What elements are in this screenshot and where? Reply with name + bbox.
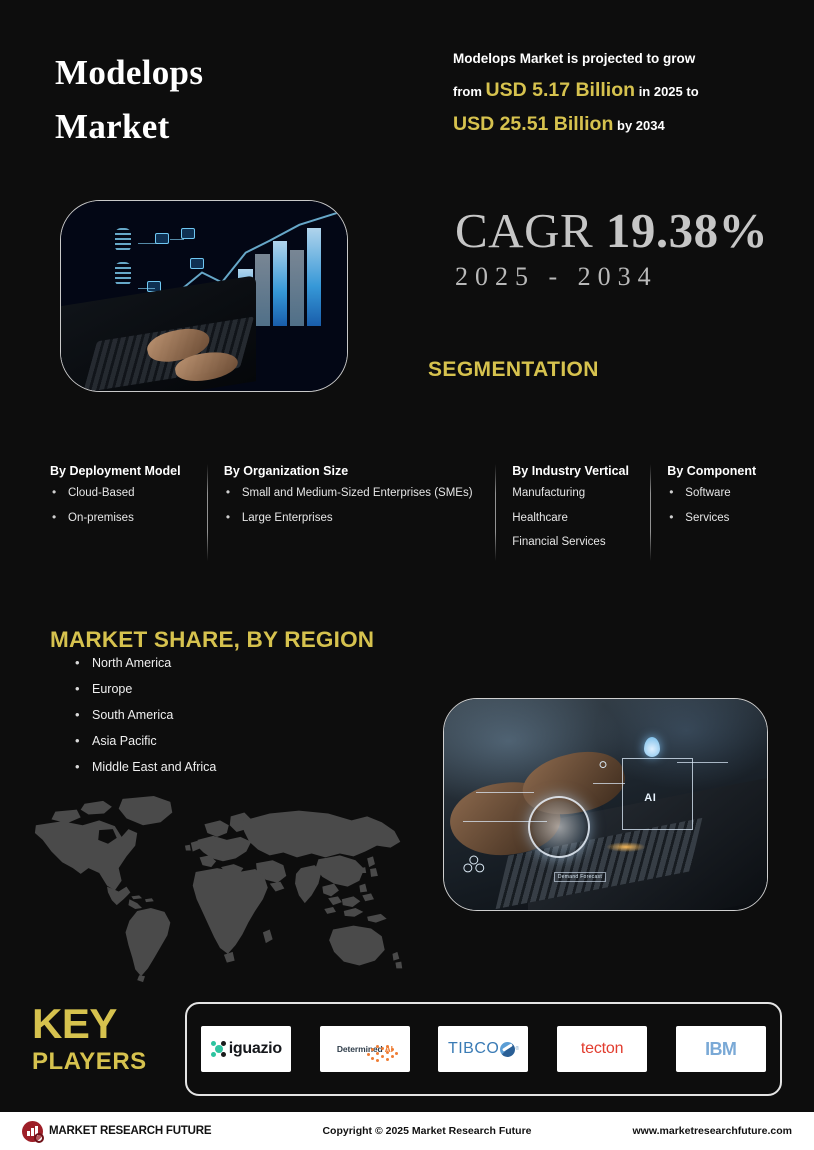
logo-label: IBM — [705, 1039, 736, 1060]
to-value: USD 25.51 Billion — [453, 113, 613, 135]
logo-card-ibm: IBM — [676, 1026, 766, 1072]
footer-brand: MARKET RESEARCH FUTURE — [22, 1121, 292, 1142]
list-item: Middle East and Africa — [74, 760, 216, 774]
list-item: Asia Pacific — [74, 734, 216, 748]
logo-card-iguazio: iguazio — [201, 1026, 291, 1072]
page-title: Modelops Market — [55, 46, 395, 155]
footer-url[interactable]: www.marketresearchfuture.com — [562, 1125, 792, 1137]
footer-bar: MARKET RESEARCH FUTURE Copyright © 2025 … — [0, 1112, 814, 1150]
segment-item: Large Enterprises — [224, 512, 479, 525]
segment-item: Cloud-Based — [50, 487, 191, 500]
projection-to-line: USD 25.51 Billion by 2034 — [453, 110, 773, 139]
logo-label: iguazio — [229, 1040, 282, 1058]
logo-card-tibco: TIBCO ® — [438, 1026, 528, 1072]
segment-item: Manufacturing — [512, 487, 634, 500]
segmentation-grid: By Deployment Model Cloud-Based On-premi… — [50, 464, 780, 561]
segment-title: By Deployment Model — [50, 464, 191, 478]
segment-item: Financial Services — [512, 536, 634, 549]
column-divider — [650, 464, 651, 561]
key-players-line-2: PLAYERS — [32, 1048, 147, 1076]
logo-card-tecton: tecton — [557, 1026, 647, 1072]
registered-mark: ® — [515, 1046, 519, 1052]
cagr-headline: CAGR 19.38% — [455, 205, 768, 256]
cagr-value: 19.38% — [606, 203, 768, 258]
projection-intro: Modelops Market is projected to grow — [453, 50, 773, 68]
list-item: South America — [74, 708, 216, 722]
iguazio-dots-icon — [211, 1040, 226, 1058]
segment-title: By Organization Size — [224, 464, 479, 478]
footer-brand-name: MARKET RESEARCH FUTURE — [49, 1125, 211, 1137]
column-divider — [207, 464, 208, 561]
infographic-page: Modelops Market Modelops Market is proje… — [0, 0, 814, 1150]
column-divider — [495, 464, 496, 561]
hero-image-ai-laptop: AI Demand Forecast — [443, 698, 768, 911]
cagr-block: CAGR 19.38% 2025 - 2034 — [455, 205, 768, 292]
market-projection-block: Modelops Market is projected to grow fro… — [453, 50, 773, 140]
segment-title: By Component — [667, 464, 780, 478]
hero-image-data-analytics — [60, 200, 348, 392]
magnifier-chart-icon — [22, 1121, 43, 1142]
title-line-2: Market — [55, 100, 395, 154]
footer-copyright: Copyright © 2025 Market Research Future — [292, 1125, 562, 1137]
cagr-period: 2025 - 2034 — [455, 262, 768, 292]
logo-label: TIBCO — [448, 1040, 499, 1058]
to-label: by 2034 — [617, 118, 665, 133]
segment-column-deployment-model: By Deployment Model Cloud-Based On-premi… — [50, 464, 191, 561]
mid-label: in 2025 to — [639, 84, 699, 99]
segment-item: Healthcare — [512, 512, 634, 525]
segment-item: Services — [667, 512, 780, 525]
market-share-heading: MARKET SHARE, BY REGION — [50, 627, 374, 653]
key-players-logo-box: iguazio Determined AI TIBCO — [185, 1002, 782, 1096]
tibco-swoosh-icon — [500, 1042, 515, 1057]
list-item: North America — [74, 656, 216, 670]
segment-item: Small and Medium-Sized Enterprises (SMEs… — [224, 487, 479, 500]
projection-from-line: from USD 5.17 Billion in 2025 to — [453, 76, 773, 105]
segment-item: Software — [667, 487, 780, 500]
logo-card-determined-ai: Determined AI — [320, 1026, 410, 1072]
segment-title: By Industry Vertical — [512, 464, 634, 478]
market-share-region-list: North America Europe South America Asia … — [74, 656, 216, 786]
key-players-line-1: KEY — [32, 1003, 147, 1044]
segmentation-heading: SEGMENTATION — [428, 358, 599, 382]
segment-column-component: By Component Software Services — [667, 464, 780, 561]
cagr-label: CAGR — [455, 203, 593, 258]
segment-column-organization-size: By Organization Size Small and Medium-Si… — [224, 464, 479, 561]
title-line-1: Modelops — [55, 46, 395, 100]
key-players-heading: KEY PLAYERS — [32, 1003, 147, 1076]
list-item: Europe — [74, 682, 216, 696]
from-label: from — [453, 84, 482, 99]
from-value: USD 5.17 Billion — [486, 79, 636, 101]
segment-item: On-premises — [50, 512, 191, 525]
logo-label: tecton — [581, 1040, 623, 1058]
world-map-graphic — [26, 795, 416, 985]
segment-column-industry-vertical: By Industry Vertical Manufacturing Healt… — [512, 464, 634, 561]
